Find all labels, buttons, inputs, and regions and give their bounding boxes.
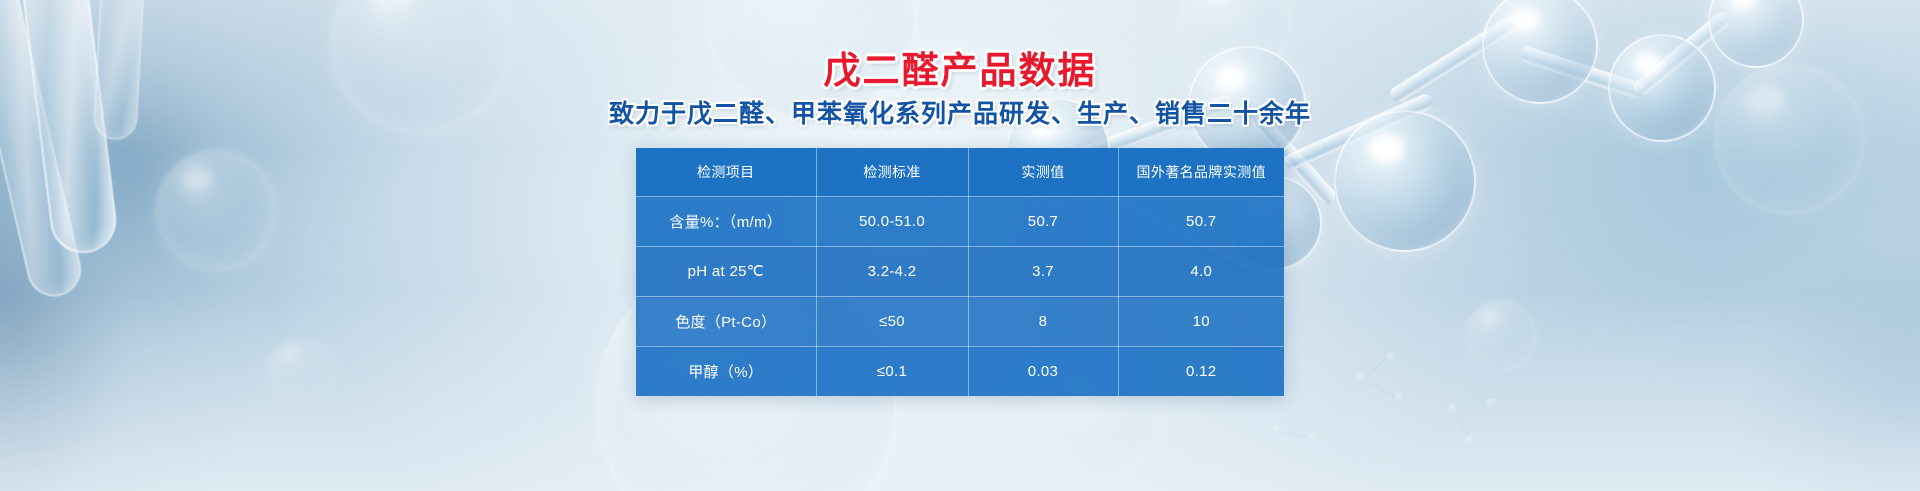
product-spec-table: 检测项目 检测标准 实测值 国外著名品牌实测值 含量%：（m/m） 50.0-5… (636, 148, 1284, 396)
column-header-foreign: 国外著名品牌实测值 (1118, 148, 1284, 196)
cell-foreign: 4.0 (1118, 246, 1284, 296)
cell-measured: 50.7 (968, 196, 1118, 246)
cell-item: 含量%：（m/m） (636, 196, 816, 246)
column-header-standard: 检测标准 (816, 148, 968, 196)
page-title: 戊二醛产品数据 (824, 52, 1097, 89)
cell-standard: 50.0-51.0 (816, 196, 968, 246)
table-row: 含量%：（m/m） 50.0-51.0 50.7 50.7 (636, 196, 1284, 246)
table-row: 甲醇（%） ≤0.1 0.03 0.12 (636, 346, 1284, 396)
column-header-item: 检测项目 (636, 148, 816, 196)
cell-foreign: 10 (1118, 296, 1284, 346)
cell-item: 色度（Pt-Co） (636, 296, 816, 346)
table-row: pH at 25℃ 3.2-4.2 3.7 4.0 (636, 246, 1284, 296)
cell-standard: ≤50 (816, 296, 968, 346)
cell-foreign: 50.7 (1118, 196, 1284, 246)
cell-foreign: 0.12 (1118, 346, 1284, 396)
cell-standard: 3.2-4.2 (816, 246, 968, 296)
cell-measured: 3.7 (968, 246, 1118, 296)
table-row: 色度（Pt-Co） ≤50 8 10 (636, 296, 1284, 346)
cell-measured: 8 (968, 296, 1118, 346)
cell-measured: 0.03 (968, 346, 1118, 396)
cell-item: pH at 25℃ (636, 246, 816, 296)
cell-standard: ≤0.1 (816, 346, 968, 396)
product-data-banner: 戊二醛产品数据 致力于戊二醛、甲苯氧化系列产品研发、生产、销售二十余年 检测项目… (0, 0, 1920, 491)
cell-item: 甲醇（%） (636, 346, 816, 396)
column-header-measured: 实测值 (968, 148, 1118, 196)
page-subtitle: 致力于戊二醛、甲苯氧化系列产品研发、生产、销售二十余年 (609, 102, 1311, 127)
table-header-row: 检测项目 检测标准 实测值 国外著名品牌实测值 (636, 148, 1284, 196)
